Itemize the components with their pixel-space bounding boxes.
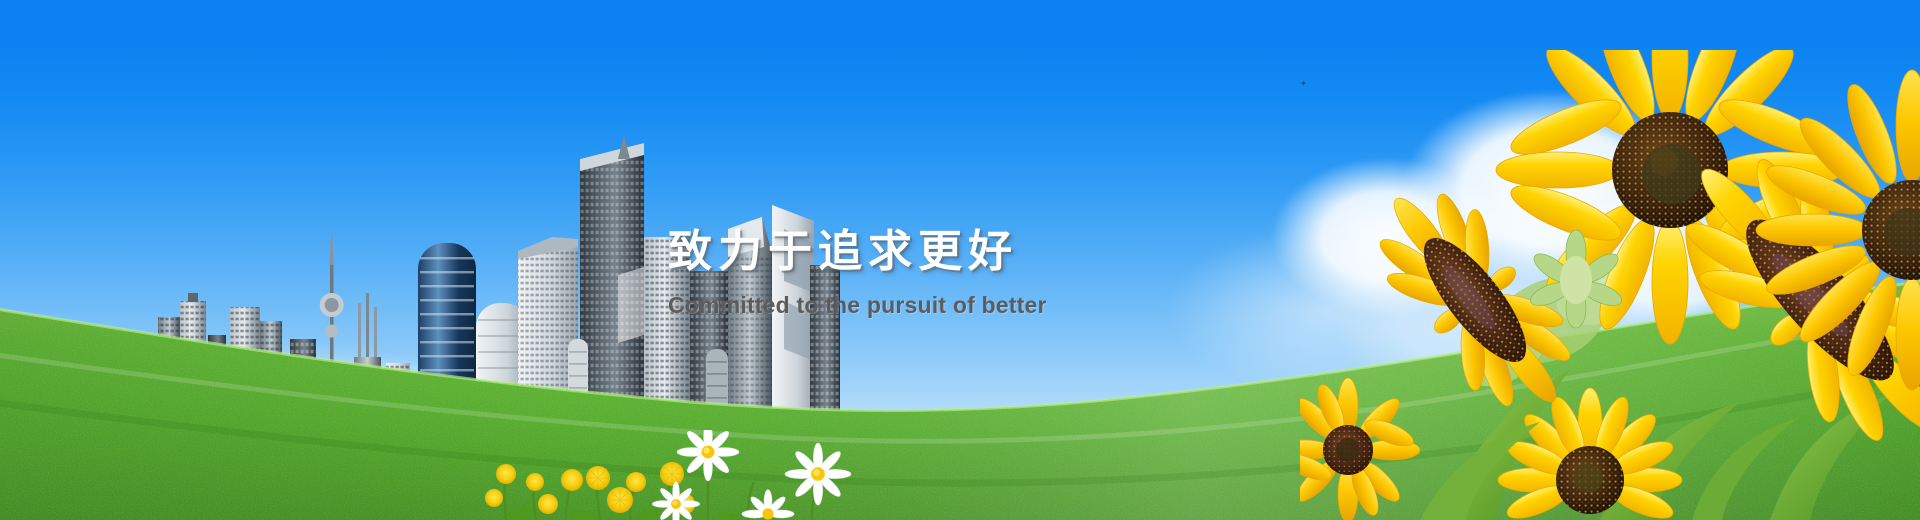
banner-caption: 致力于追求更好 Committed to the pursuit of bett…: [668, 228, 1228, 319]
hero-banner: ✦: [0, 0, 1920, 520]
meadow-flowers: [480, 430, 900, 520]
banner-title: 致力于追求更好: [668, 228, 1228, 276]
banner-subtitle: Committed to the pursuit of better: [668, 292, 1228, 319]
sunflower-cluster: [1300, 50, 1920, 520]
